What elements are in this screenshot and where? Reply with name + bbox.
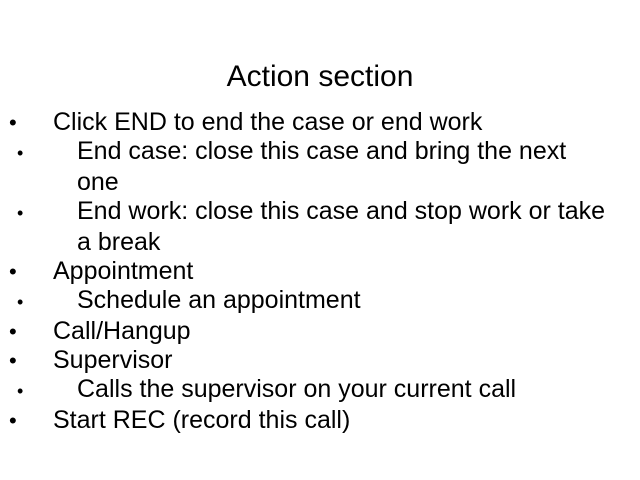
list-item: •Supervisor bbox=[31, 346, 612, 375]
bullet-icon: • bbox=[47, 377, 77, 406]
bullet-icon: • bbox=[31, 317, 53, 346]
bullet-icon: • bbox=[47, 139, 77, 168]
list-item: •Call/Hangup bbox=[31, 317, 612, 346]
list-item-label: End case: close this case and bring the … bbox=[77, 137, 566, 196]
list-item-label: Call/Hangup bbox=[53, 317, 191, 345]
slide-canvas: Action section •Click END to end the cas… bbox=[0, 0, 640, 480]
list-item-label: End work: close this case and stop work … bbox=[77, 197, 605, 256]
page-title: Action section bbox=[0, 58, 640, 96]
list-item: •End work: close this case and stop work… bbox=[47, 197, 612, 257]
list-item-label: Start REC (record this call) bbox=[53, 406, 350, 434]
list-item: •End case: close this case and bring the… bbox=[47, 137, 612, 197]
bullet-icon: • bbox=[31, 108, 53, 137]
bullet-icon: • bbox=[47, 288, 77, 317]
bullet-list: •Click END to end the case or end work •… bbox=[28, 108, 612, 435]
list-item: •Calls the supervisor on your current ca… bbox=[47, 375, 612, 406]
bullet-icon: • bbox=[31, 257, 53, 286]
list-item-label: Schedule an appointment bbox=[77, 286, 361, 314]
list-item: •Appointment bbox=[31, 257, 612, 286]
list-item-label: Appointment bbox=[53, 257, 193, 285]
bullet-icon: • bbox=[31, 406, 53, 435]
list-item-label: Supervisor bbox=[53, 346, 173, 374]
list-item: •Schedule an appointment bbox=[47, 286, 612, 317]
list-item-label: Click END to end the case or end work bbox=[53, 108, 482, 136]
list-item: •Start REC (record this call) bbox=[31, 406, 612, 435]
bullet-icon: • bbox=[47, 199, 77, 228]
list-item-label: Calls the supervisor on your current cal… bbox=[77, 375, 516, 403]
list-item: •Click END to end the case or end work bbox=[31, 108, 612, 137]
bullet-icon: • bbox=[31, 346, 53, 375]
